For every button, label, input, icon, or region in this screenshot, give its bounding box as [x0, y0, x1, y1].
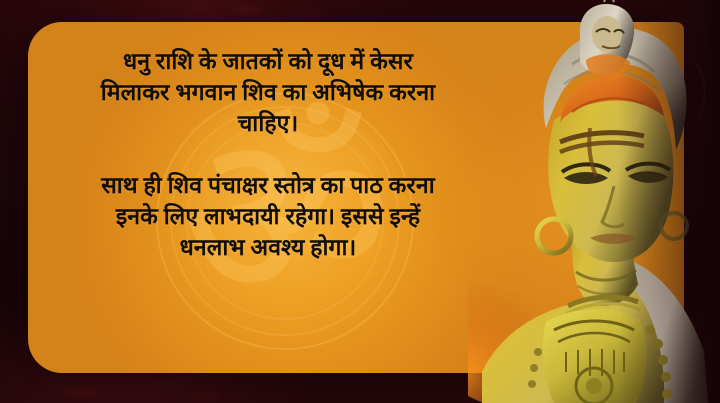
edge-shadow [618, 0, 720, 403]
quote-line: धनु राशि के जातकों को दूध में केसर [28, 46, 508, 77]
quote-line: मिलाकर भगवान शिव का अभिषेक करना [28, 77, 508, 108]
quote-line: चाहिए। [28, 108, 508, 139]
backdrop-speck [60, 388, 100, 397]
quote-line: इनके लिए लाभदायी रहेगा। इससे इन्हें [28, 201, 508, 232]
ganga-crown-tip [604, 0, 614, 2]
large-ear-ring [537, 219, 571, 253]
quote-text-block: धनु राशि के जातकों को दूध में केसर मिलाक… [28, 46, 508, 263]
backdrop-speck [230, 6, 264, 16]
lord-shiva-statue [468, 0, 720, 403]
quote-paragraph-2: साथ ही शिव पंचाक्षर स्तोत्र का पाठ करना … [28, 170, 508, 263]
quote-card-image: ॐ धनु राशि के जातकों को दूध में केसर मिल… [0, 0, 720, 403]
backdrop-speck [190, 392, 220, 400]
quote-paragraph-1: धनु राशि के जातकों को दूध में केसर मिलाक… [28, 46, 508, 139]
pendant-medallion-center [586, 378, 602, 394]
quote-line: साथ ही शिव पंचाक्षर स्तोत्र का पाठ करना [28, 170, 508, 201]
quote-line: धनलाभ अवश्य होगा। [28, 232, 508, 263]
backdrop-speck [300, 12, 322, 19]
